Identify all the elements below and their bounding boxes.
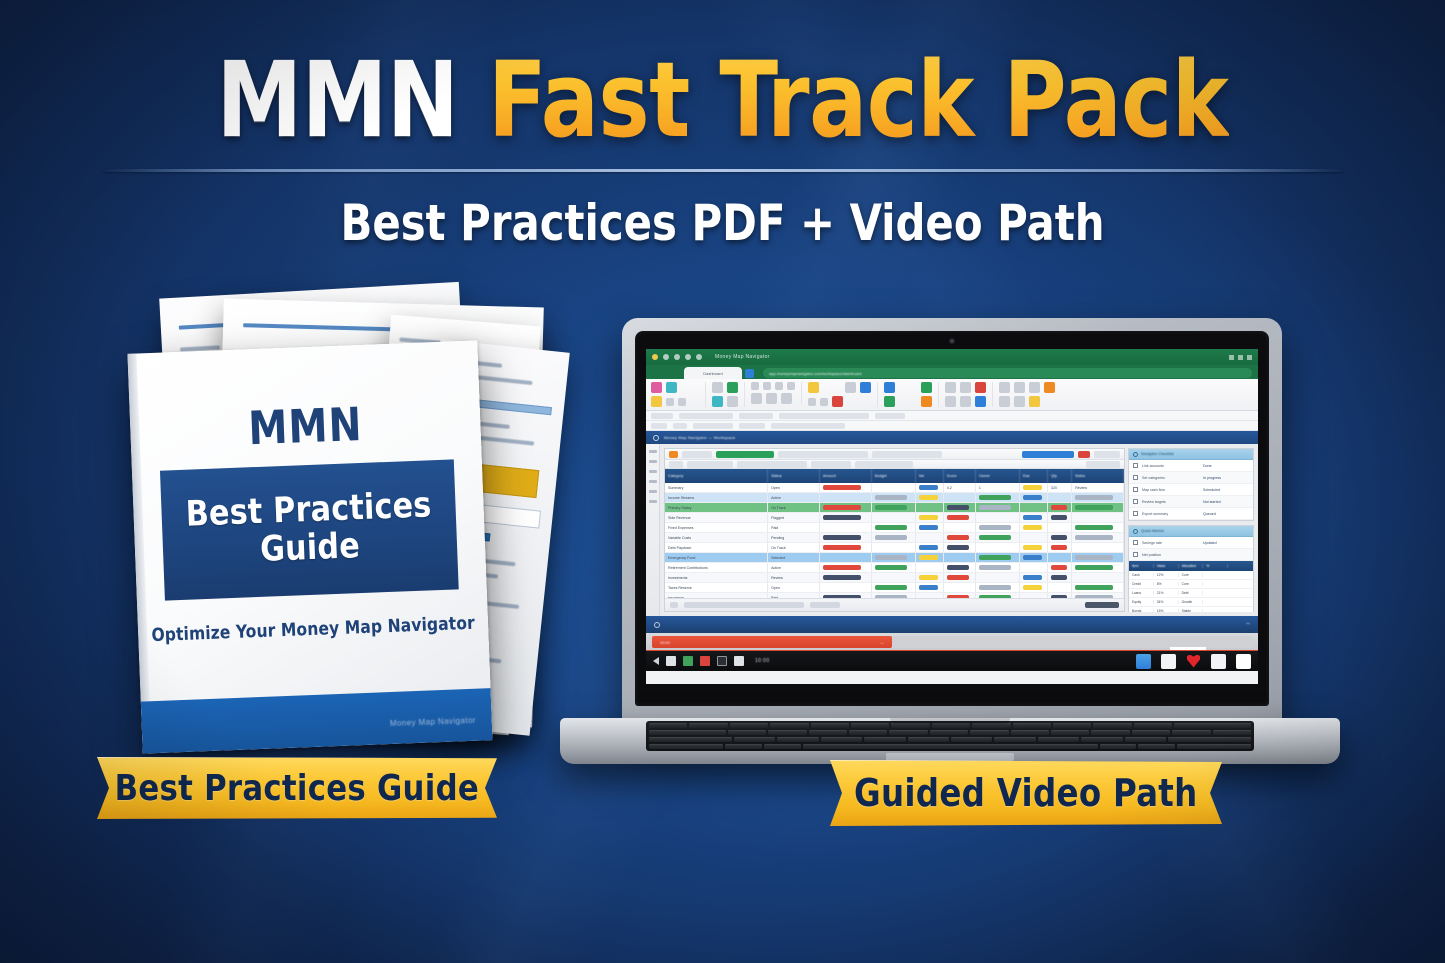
mini-grid-cell[interactable]: Growth xyxy=(1179,600,1204,604)
grid-row[interactable]: Income StreamsActive xyxy=(665,493,1124,503)
grid-column-header[interactable]: Budget xyxy=(872,469,916,483)
currency-icon[interactable] xyxy=(808,382,819,393)
grid-cell[interactable] xyxy=(1020,513,1048,522)
checklist-checkbox[interactable] xyxy=(1133,475,1138,480)
grid-cell[interactable] xyxy=(820,533,872,542)
comma-icon[interactable] xyxy=(860,382,871,393)
checklist-row[interactable]: Map cash flowScheduled xyxy=(1129,484,1253,496)
grid-column-header[interactable]: Owner xyxy=(976,469,1020,483)
grid-column-header[interactable]: Amount xyxy=(820,469,872,483)
mini-grid-cell[interactable]: Loans xyxy=(1129,591,1154,595)
checklist-panel[interactable]: Navigator Checklist Link accountsDoneSet… xyxy=(1128,448,1254,521)
grid-cell[interactable]: Summary xyxy=(665,483,768,492)
mini-grid-cell[interactable]: 21% xyxy=(1154,591,1179,595)
ribbon-group-styles[interactable] xyxy=(884,382,939,407)
ribbon-group-editing[interactable] xyxy=(945,382,993,407)
grid-cell[interactable] xyxy=(944,553,976,562)
laptop-keyboard xyxy=(646,721,1254,751)
grid-cell[interactable] xyxy=(1020,543,1048,552)
grid-row[interactable]: InsurancePaid xyxy=(665,593,1124,598)
grid-cell[interactable]: Insurance xyxy=(665,593,768,598)
grid-cell[interactable] xyxy=(872,563,916,572)
paste-icon[interactable] xyxy=(651,382,662,393)
grid-view-selector[interactable] xyxy=(872,451,942,458)
mini-grid-cell[interactable]: Core xyxy=(1179,573,1204,577)
grid-cell[interactable] xyxy=(1020,523,1048,532)
checklist-row[interactable]: Link accountsDone xyxy=(1129,460,1253,472)
grid-cell[interactable] xyxy=(1020,553,1048,562)
grid-cell[interactable] xyxy=(820,543,872,552)
grid-row[interactable]: Primary SalaryOn Track xyxy=(665,503,1124,513)
grid-cell[interactable] xyxy=(872,553,916,562)
grid-row[interactable]: Emergency FundSelected xyxy=(665,553,1124,563)
presentation-icon[interactable] xyxy=(700,656,710,666)
grid-cell[interactable] xyxy=(872,503,916,512)
grid-cell[interactable] xyxy=(944,563,976,572)
video-elapsed-label: 00:00 xyxy=(660,640,670,645)
format-painter-icon[interactable] xyxy=(666,398,674,406)
close-icon[interactable] xyxy=(1247,355,1252,360)
mini-grid-row[interactable]: Loans21%Debt xyxy=(1129,589,1253,598)
checklist-value: In progress xyxy=(1203,476,1249,480)
checklist-row[interactable]: Review targetsNot started xyxy=(1129,496,1253,508)
grid-cell[interactable] xyxy=(1048,593,1072,598)
grid-cell[interactable] xyxy=(944,493,976,502)
checklist-row[interactable]: Export summaryQueued xyxy=(1129,508,1253,520)
cut-icon[interactable] xyxy=(666,382,677,393)
grid-cell[interactable] xyxy=(820,503,872,512)
rail-item-icon[interactable] xyxy=(649,490,657,493)
grid-cell[interactable] xyxy=(916,533,944,542)
grid-cell[interactable] xyxy=(872,513,916,522)
mail-icon[interactable] xyxy=(1161,654,1176,669)
grid-cell[interactable] xyxy=(976,573,1020,582)
favorite-icon[interactable] xyxy=(1186,654,1201,669)
mini-grid-cell[interactable]: Stable xyxy=(1179,609,1204,612)
grid-cell[interactable] xyxy=(976,503,1020,512)
rail-item-icon[interactable] xyxy=(649,460,657,463)
os-taskbar[interactable]: 10:00 xyxy=(646,651,1258,671)
mini-grid-cell[interactable]: Bonds xyxy=(1129,609,1154,612)
grid-cell[interactable]: 320 xyxy=(1048,483,1072,492)
ribbon-group-number[interactable] xyxy=(808,382,878,407)
panel-collapse-icon[interactable] xyxy=(1133,452,1138,457)
grid-cell[interactable] xyxy=(944,503,976,512)
window-controls[interactable] xyxy=(1229,355,1252,360)
video-progress-area[interactable]: 00:00 — xyxy=(646,633,1258,651)
rail-item-icon[interactable] xyxy=(649,470,657,473)
justify-icon[interactable] xyxy=(787,382,795,390)
grid-cell[interactable] xyxy=(1072,553,1124,562)
grid-cell[interactable] xyxy=(872,483,916,492)
grid-cell[interactable] xyxy=(820,593,872,598)
wrap-text-icon[interactable] xyxy=(781,393,792,404)
laptop-screen: Money Map Navigator Dashboard xyxy=(646,349,1258,684)
grid-cell[interactable]: Pending xyxy=(768,533,820,542)
grid-cell[interactable]: Investments xyxy=(665,573,768,582)
history-icon[interactable] xyxy=(1014,396,1025,407)
grid-row[interactable]: Taxes ReserveOpen xyxy=(665,583,1124,593)
grid-cell[interactable] xyxy=(1020,503,1048,512)
grid-cell[interactable] xyxy=(820,573,872,582)
grid-cell[interactable]: Emergency Fund xyxy=(665,553,768,562)
grid-cell[interactable] xyxy=(820,563,872,572)
grid-column-header[interactable]: Score xyxy=(944,469,976,483)
rail-item-icon[interactable] xyxy=(649,450,657,453)
grid-cell[interactable] xyxy=(1048,563,1072,572)
grid-cell[interactable] xyxy=(1072,523,1124,532)
ribbon-group-addins[interactable] xyxy=(999,382,1061,407)
grid-cell[interactable] xyxy=(976,553,1020,562)
grid-cell[interactable]: On Track xyxy=(768,503,820,512)
checklist-checkbox[interactable] xyxy=(1133,511,1138,516)
grid-cell[interactable] xyxy=(1020,583,1048,592)
window-dot-icon[interactable] xyxy=(696,354,702,360)
grid-cell[interactable] xyxy=(944,573,976,582)
mini-grid-column-header[interactable]: Allocation xyxy=(1179,564,1204,568)
grid-cell[interactable] xyxy=(820,583,872,592)
grid-cell[interactable] xyxy=(944,543,976,552)
checklist-label: Link accounts xyxy=(1142,464,1199,468)
mini-grid-cell[interactable]: 8% xyxy=(1154,582,1179,586)
video-progress-fill[interactable]: 00:00 — xyxy=(652,636,892,648)
grid-cell[interactable]: Taxes Reserve xyxy=(665,583,768,592)
grid-delete-button[interactable] xyxy=(1078,451,1090,458)
grid-cell[interactable] xyxy=(916,493,944,502)
window-title: Money Map Navigator xyxy=(715,354,770,360)
grid-cell[interactable]: Review xyxy=(768,573,820,582)
browser-tabstrip[interactable]: Dashboard app.moneymapnavigator.com/work… xyxy=(646,365,1258,379)
grid-cell[interactable] xyxy=(1048,553,1072,562)
grid-status-button[interactable] xyxy=(716,451,774,458)
laptop-lid: Money Map Navigator Dashboard xyxy=(622,318,1282,730)
mini-grid-row[interactable]: Bonds15%Stable xyxy=(1129,607,1253,612)
grid-cell[interactable] xyxy=(916,573,944,582)
grid-cell[interactable] xyxy=(976,533,1020,542)
grid-cell[interactable] xyxy=(1048,493,1072,502)
grid-column-header[interactable]: Qty xyxy=(1048,469,1072,483)
grid-cell[interactable] xyxy=(1020,493,1048,502)
pivot-icon[interactable] xyxy=(1029,382,1040,393)
grid-cell[interactable]: Fixed Expenses xyxy=(665,523,768,532)
footer-signature: ~ xyxy=(1246,621,1250,628)
select-icon[interactable] xyxy=(975,396,986,407)
window-dot-icon[interactable] xyxy=(652,354,658,360)
grid-subtoolbar[interactable] xyxy=(665,460,1124,469)
increase-decimal-icon[interactable] xyxy=(808,398,816,406)
clear-icon[interactable] xyxy=(678,398,686,406)
app-workspace: CategoryStatusAmountBudgetVarScoreOwnerD… xyxy=(646,444,1258,616)
grid-cell[interactable] xyxy=(1048,533,1072,542)
find-icon[interactable] xyxy=(960,396,971,407)
grid-cell[interactable] xyxy=(1072,533,1124,542)
grid-column-header[interactable]: Var xyxy=(916,469,944,483)
ribbon-group-alignment[interactable] xyxy=(751,382,802,404)
grid-cell[interactable] xyxy=(872,543,916,552)
grid-row[interactable]: Debt PaydownOn Track xyxy=(665,543,1124,553)
grid-cell[interactable] xyxy=(916,583,944,592)
fill-icon[interactable] xyxy=(960,382,971,393)
grid-cell[interactable]: Debt Paydown xyxy=(665,543,768,552)
grid-cell[interactable] xyxy=(976,593,1020,598)
taskbar-tray[interactable] xyxy=(1136,654,1251,669)
grid-cell[interactable]: Retirement Contributions xyxy=(665,563,768,572)
grid-cell[interactable]: 4.2 xyxy=(944,483,976,492)
bold-icon[interactable] xyxy=(712,382,723,393)
grid-cell[interactable] xyxy=(1072,543,1124,552)
mini-grid-cell[interactable]: 34% xyxy=(1154,600,1179,604)
checklist-row[interactable]: Set categoriesIn progress xyxy=(1129,472,1253,484)
grid-cell[interactable]: Active xyxy=(768,493,820,502)
grid-cell[interactable] xyxy=(916,523,944,532)
signature-icon[interactable] xyxy=(1236,654,1251,669)
checklist-checkbox[interactable] xyxy=(1133,499,1138,504)
grid-cell[interactable] xyxy=(1072,593,1124,598)
mini-grid-row[interactable]: Cash12%Core xyxy=(1129,571,1253,580)
grid-cell[interactable]: Income Streams xyxy=(665,493,768,502)
app-icon[interactable] xyxy=(745,369,754,378)
grid-cell[interactable]: Selected xyxy=(768,553,820,562)
grid-cell[interactable]: Side Revenue xyxy=(665,513,768,522)
grid-cell[interactable] xyxy=(916,553,944,562)
grid-column-header[interactable]: Category xyxy=(665,469,768,483)
grid-cell[interactable] xyxy=(872,583,916,592)
grid-cell[interactable] xyxy=(1072,563,1124,572)
metric-checkbox[interactable] xyxy=(1133,552,1138,557)
metric-checkbox[interactable] xyxy=(1133,540,1138,545)
grid-cell[interactable] xyxy=(944,513,976,522)
copy-icon[interactable] xyxy=(651,396,662,407)
grid-cell-bar xyxy=(1075,525,1113,530)
grid-cell[interactable] xyxy=(872,523,916,532)
share-icon[interactable] xyxy=(1044,382,1055,393)
calendar-icon[interactable] xyxy=(1136,654,1151,669)
settings-icon[interactable] xyxy=(734,656,744,666)
grid-cell[interactable] xyxy=(944,533,976,542)
grid-filter-button[interactable] xyxy=(682,451,712,458)
secondary-toolbar[interactable] xyxy=(646,421,1258,431)
grid-cell[interactable] xyxy=(820,493,872,502)
grid-cell[interactable]: On Track xyxy=(768,543,820,552)
grid-cell[interactable] xyxy=(976,523,1020,532)
grid-cell[interactable]: Flagged xyxy=(768,513,820,522)
grid-footer[interactable] xyxy=(665,598,1124,611)
help-icon[interactable] xyxy=(1029,396,1040,407)
grid-cell[interactable] xyxy=(1048,573,1072,582)
file-explorer-icon[interactable] xyxy=(666,656,676,666)
grid-cell[interactable] xyxy=(916,543,944,552)
formula-bar[interactable] xyxy=(646,411,1258,421)
checklist-label: Review targets xyxy=(1142,500,1199,504)
grid-cell[interactable] xyxy=(820,553,872,562)
grid-search-field[interactable] xyxy=(778,451,868,458)
address-bar[interactable]: app.moneymapnavigator.com/workspace/dash… xyxy=(763,368,1252,378)
grid-row[interactable]: SummaryOpen4.21320Review xyxy=(665,483,1124,493)
grid-cell[interactable] xyxy=(872,533,916,542)
document-stack: MMN Best Practices Guide Optimize Your M… xyxy=(100,285,570,755)
grid-cell[interactable] xyxy=(1048,513,1072,522)
grid-cell[interactable] xyxy=(1048,523,1072,532)
window-dot-icon[interactable] xyxy=(674,354,680,360)
grid-toolbar[interactable] xyxy=(665,449,1124,460)
mini-grid-column-header[interactable]: Value xyxy=(1154,564,1179,568)
browser-tab[interactable]: Dashboard xyxy=(684,367,742,379)
grid-new-button[interactable] xyxy=(669,451,678,458)
grid-cell[interactable] xyxy=(820,513,872,522)
metric-row[interactable]: Savings rateUpdated xyxy=(1129,537,1253,549)
addin-icon[interactable] xyxy=(999,382,1010,393)
grid-more-button[interactable] xyxy=(1094,451,1120,458)
grid-cell[interactable] xyxy=(1020,483,1048,492)
cell-style-icon[interactable] xyxy=(921,382,932,393)
mini-grid-cell[interactable]: Equity xyxy=(1129,600,1154,604)
conditional-format-icon[interactable] xyxy=(832,396,843,407)
grid-cell-bar xyxy=(1023,585,1042,590)
grid-row[interactable]: Retirement ContributionsActive xyxy=(665,563,1124,573)
font-color-icon[interactable] xyxy=(727,396,738,407)
grid-cell[interactable] xyxy=(976,493,1020,502)
grid-cell[interactable] xyxy=(944,593,976,598)
table-style-icon[interactable] xyxy=(884,382,895,393)
mini-grid-cell[interactable]: Debt xyxy=(1179,591,1204,595)
mini-grid-row[interactable]: Equity34%Growth xyxy=(1129,598,1253,607)
grid-cell[interactable]: Open xyxy=(768,583,820,592)
grid-cell[interactable]: Paid xyxy=(768,523,820,532)
keyboard-row xyxy=(649,730,1251,735)
grid-cell[interactable] xyxy=(944,583,976,592)
grid-cell[interactable] xyxy=(1020,573,1048,582)
grid-cell[interactable] xyxy=(976,513,1020,522)
ribbon-group-font[interactable] xyxy=(712,382,745,407)
grid-cell[interactable] xyxy=(1072,583,1124,592)
data-grid[interactable]: CategoryStatusAmountBudgetVarScoreOwnerD… xyxy=(664,448,1125,612)
grid-cell[interactable] xyxy=(1020,593,1048,598)
filter-icon[interactable] xyxy=(945,396,956,407)
chart-icon[interactable] xyxy=(1014,382,1025,393)
ribbon-group-clipboard[interactable] xyxy=(651,382,706,407)
grid-body[interactable]: SummaryOpen4.21320ReviewIncome StreamsAc… xyxy=(665,483,1124,598)
grid-cell[interactable] xyxy=(976,583,1020,592)
grid-cell[interactable] xyxy=(916,513,944,522)
align-center-icon[interactable] xyxy=(763,382,771,390)
play-icon[interactable] xyxy=(653,657,659,665)
grid-cell[interactable] xyxy=(1072,513,1124,522)
grid-cell[interactable] xyxy=(1072,493,1124,502)
sort-icon[interactable] xyxy=(975,382,986,393)
mini-grid-cell[interactable]: Credit xyxy=(1129,582,1154,586)
grid-cell[interactable] xyxy=(872,593,916,598)
grid-cell[interactable]: Review xyxy=(1072,483,1124,492)
grid-row[interactable]: Fixed ExpensesPaid xyxy=(665,523,1124,533)
checklist-checkbox[interactable] xyxy=(1133,463,1138,468)
grid-column-header[interactable]: Due xyxy=(1020,469,1048,483)
terminal-icon[interactable] xyxy=(717,656,727,666)
grid-cell[interactable] xyxy=(976,543,1020,552)
ribbon-toolbar[interactable] xyxy=(646,379,1258,411)
grid-cell-bar xyxy=(1051,565,1067,570)
outdent-icon[interactable] xyxy=(766,393,777,404)
grid-cell[interactable]: 1 xyxy=(976,483,1020,492)
align-left-icon[interactable] xyxy=(751,382,759,390)
delete-icon[interactable] xyxy=(921,396,932,407)
grid-cell[interactable]: Paid xyxy=(768,593,820,598)
grid-cell[interactable] xyxy=(1020,533,1048,542)
grid-cell[interactable]: Variable Costs xyxy=(665,533,768,542)
comment-icon[interactable] xyxy=(999,396,1010,407)
mini-grid-cell[interactable]: Core xyxy=(1179,582,1204,586)
grid-row[interactable]: Side RevenueFlagged xyxy=(665,513,1124,523)
right-side-panels[interactable]: Navigator Checklist Link accountsDoneSet… xyxy=(1128,448,1254,612)
grid-primary-button[interactable] xyxy=(1022,451,1074,458)
grid-cell[interactable]: Open xyxy=(768,483,820,492)
grid-cell[interactable] xyxy=(1072,573,1124,582)
percent-icon[interactable] xyxy=(845,382,856,393)
grid-cell[interactable] xyxy=(1048,503,1072,512)
rail-item-icon[interactable] xyxy=(649,500,657,503)
grid-cell-bar xyxy=(1075,555,1113,560)
grid-cell[interactable] xyxy=(872,493,916,502)
mini-grid-column-header[interactable]: % xyxy=(1203,564,1228,568)
maximize-icon[interactable] xyxy=(1238,355,1243,360)
checklist-checkbox[interactable] xyxy=(1133,487,1138,492)
grid-column-header[interactable]: Status xyxy=(768,469,820,483)
grid-cell[interactable] xyxy=(916,483,944,492)
grid-cell[interactable] xyxy=(1072,503,1124,512)
window-dot-icon[interactable] xyxy=(685,354,691,360)
grid-cell[interactable] xyxy=(976,563,1020,572)
grid-cell[interactable] xyxy=(916,563,944,572)
grid-cell[interactable] xyxy=(820,523,872,532)
metric-row[interactable]: Net position xyxy=(1129,549,1253,561)
grid-row[interactable]: Variable CostsPending xyxy=(665,533,1124,543)
grid-cell[interactable] xyxy=(820,483,872,492)
mini-grid-column-header[interactable]: Item xyxy=(1129,564,1154,568)
minimize-icon[interactable] xyxy=(1229,355,1234,360)
checklist-value: Scheduled xyxy=(1203,488,1249,492)
align-right-icon[interactable] xyxy=(775,382,783,390)
grid-cell[interactable] xyxy=(1048,583,1072,592)
rail-item-icon[interactable] xyxy=(649,480,657,483)
grid-cell[interactable] xyxy=(944,523,976,532)
grid-cell[interactable] xyxy=(1020,563,1048,572)
underline-icon[interactable] xyxy=(712,396,723,407)
left-rail[interactable] xyxy=(646,444,660,616)
grid-cell[interactable] xyxy=(872,573,916,582)
mini-grid-row[interactable]: Credit8%Core xyxy=(1129,580,1253,589)
grid-cell[interactable] xyxy=(916,593,944,598)
grid-cell[interactable]: Active xyxy=(768,563,820,572)
italic-icon[interactable] xyxy=(727,382,738,393)
mini-grid-cell[interactable]: 15% xyxy=(1154,609,1179,612)
decrease-decimal-icon[interactable] xyxy=(820,398,828,406)
insert-icon[interactable] xyxy=(884,396,895,407)
grid-row[interactable]: InvestmentsReview xyxy=(665,573,1124,583)
grid-cell[interactable] xyxy=(916,503,944,512)
mini-grid-cell[interactable]: 12% xyxy=(1154,573,1179,577)
panel-collapse-icon[interactable] xyxy=(1133,529,1138,534)
grid-cell[interactable] xyxy=(1048,543,1072,552)
grid-column-header[interactable]: Notes xyxy=(1072,469,1124,483)
video-progress-track[interactable]: 00:00 — xyxy=(652,636,1252,648)
grid-cell[interactable]: Primary Salary xyxy=(665,503,768,512)
upload-icon[interactable] xyxy=(1211,654,1226,669)
sum-icon[interactable] xyxy=(945,382,956,393)
spreadsheet-icon[interactable] xyxy=(683,656,693,666)
indent-icon[interactable] xyxy=(751,393,762,404)
mini-grid-cell[interactable]: Cash xyxy=(1129,573,1154,577)
metrics-panel[interactable]: Quick Metrics Savings rateUpdatedNet pos… xyxy=(1128,525,1254,612)
window-dot-icon[interactable] xyxy=(663,354,669,360)
